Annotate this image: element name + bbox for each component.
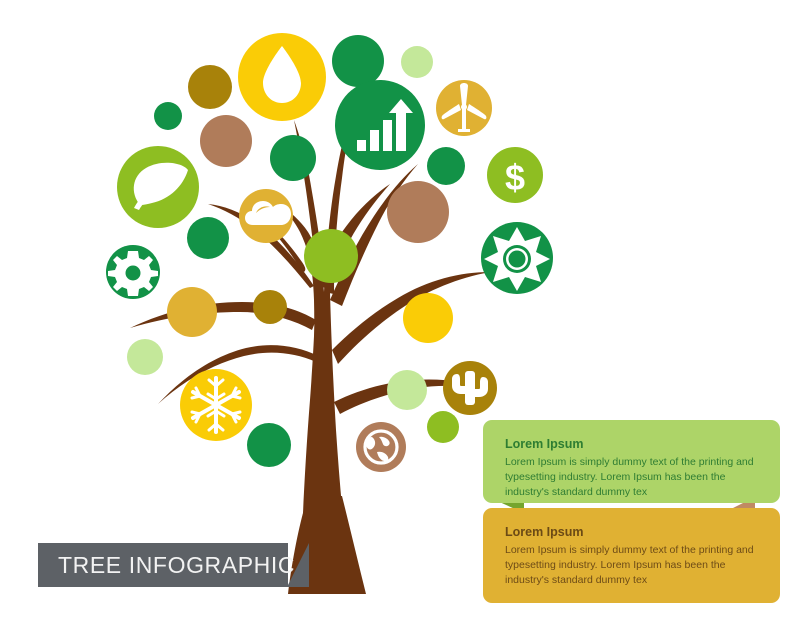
- card-green-title: Lorem Ipsum: [505, 436, 758, 453]
- card-yellow-title: Lorem Ipsum: [505, 524, 758, 541]
- card-green-body: Lorem Ipsum is simply dummy text of the …: [505, 455, 757, 500]
- decor-circle: [387, 181, 449, 243]
- decor-circle: [247, 423, 291, 467]
- sun-center-hole: [509, 251, 526, 268]
- node-sun[interactable]: [481, 222, 553, 294]
- decor-circle: [253, 290, 287, 324]
- node-water-drop[interactable]: [238, 33, 326, 121]
- decor-circle: [387, 370, 427, 410]
- node-snowflake[interactable]: [180, 369, 252, 441]
- card-yellow-body: Lorem Ipsum is simply dummy text of the …: [505, 543, 757, 588]
- decor-circle: [332, 35, 384, 87]
- decor-circle: [200, 115, 252, 167]
- decor-circle: [427, 411, 459, 443]
- gear-hole: [126, 266, 141, 281]
- decor-circle: [154, 102, 182, 130]
- bar-chart-circle[interactable]: [335, 80, 425, 170]
- decor-circle: [127, 339, 163, 375]
- decor-circle: [304, 229, 358, 283]
- node-leaf[interactable]: [117, 146, 199, 228]
- node-dollar[interactable]: $: [487, 147, 543, 203]
- decor-circle: [188, 65, 232, 109]
- decor-circle: [401, 46, 433, 78]
- callout-card-yellow[interactable]: Lorem Ipsum Lorem Ipsum is simply dummy …: [483, 508, 780, 603]
- node-bar-chart[interactable]: [335, 80, 425, 170]
- node-cloud[interactable]: [239, 189, 293, 243]
- decor-circle: [270, 135, 316, 181]
- node-globe[interactable]: [356, 422, 406, 472]
- ribbon-skew-edge: [287, 543, 309, 587]
- decor-circle: [187, 217, 229, 259]
- decor-circle: [427, 147, 465, 185]
- page-title: TREE INFOGRAPHIC: [38, 552, 295, 579]
- node-cactus[interactable]: [443, 361, 497, 415]
- title-ribbon: TREE INFOGRAPHIC: [38, 543, 288, 587]
- infographic-canvas: $: [0, 0, 800, 623]
- callout-card-green[interactable]: Lorem Ipsum Lorem Ipsum is simply dummy …: [483, 420, 780, 503]
- node-wind-turbine[interactable]: [436, 80, 492, 136]
- decor-circle: [403, 293, 453, 343]
- dollar-icon: $: [505, 157, 525, 198]
- node-gear[interactable]: [106, 245, 160, 299]
- decor-circle: [167, 287, 217, 337]
